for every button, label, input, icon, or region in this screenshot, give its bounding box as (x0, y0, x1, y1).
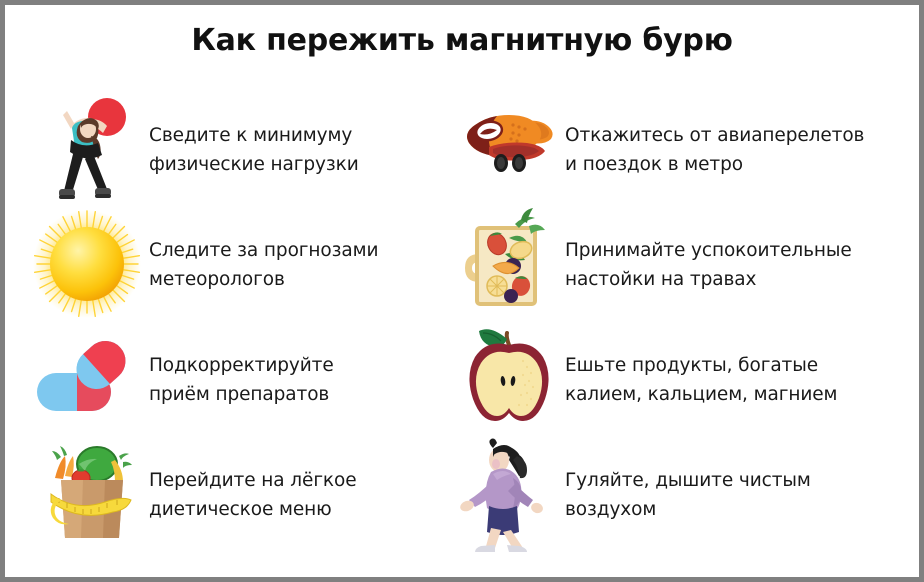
airplane-icon (453, 93, 565, 208)
tip-label: Следите за прогнозами метеорологов (149, 237, 378, 294)
tip-item: Принимайте успокоительные настойки на тр… (453, 208, 898, 323)
tip-item: Подкорректируйте приём препаратов (31, 323, 476, 438)
tip-label: Принимайте успокоительные настойки на тр… (565, 237, 852, 294)
tip-label: Откажитесь от авиаперелетов и поездок в … (565, 122, 864, 179)
tips-column-right: Откажитесь от авиаперелетов и поездок в … (453, 93, 898, 573)
tip-label: Гуляйте, дышите чистым воздухом (565, 467, 811, 524)
tip-line-2: настойки на травах (565, 269, 756, 290)
tip-line-1: Перейдите на лёгкое (149, 470, 357, 491)
tip-line-2: калием, кальцием, магнием (565, 384, 837, 405)
tip-line-1: Ешьте продукты, богатые (565, 355, 818, 376)
tip-item: Откажитесь от авиаперелетов и поездок в … (453, 93, 898, 208)
tip-line-2: физические нагрузки (149, 154, 359, 175)
tip-item: Гуляйте, дышите чистым воздухом (453, 438, 898, 553)
tip-line-2: метеорологов (149, 269, 285, 290)
tip-line-2: диетическое меню (149, 499, 332, 520)
tip-label: Подкорректируйте приём препаратов (149, 352, 334, 409)
tip-line-1: Откажитесь от авиаперелетов (565, 125, 864, 146)
tip-line-2: приём препаратов (149, 384, 329, 405)
tip-item: Перейдите на лёгкое диетическое меню (31, 438, 476, 553)
tip-item: Следите за прогнозами метеорологов (31, 208, 476, 323)
infographic-canvas: Как пережить магнитную бурю (5, 5, 919, 577)
tip-line-1: Подкорректируйте (149, 355, 334, 376)
tip-label: Перейдите на лёгкое диетическое меню (149, 467, 357, 524)
grocery-bag-measuring-tape-icon (31, 438, 149, 553)
herbal-tea-mug-icon (453, 208, 565, 323)
tip-line-1: Принимайте успокоительные (565, 240, 852, 261)
tip-line-2: и поездок в метро (565, 154, 743, 175)
tip-label: Ешьте продукты, богатые калием, кальцием… (565, 352, 837, 409)
apple-half-icon (453, 323, 565, 438)
tip-item: Сведите к минимуму физические нагрузки (31, 93, 476, 208)
walking-person-icon (453, 438, 565, 553)
tip-line-1: Следите за прогнозами (149, 240, 378, 261)
tip-line-1: Гуляйте, дышите чистым (565, 470, 811, 491)
sun-icon (31, 208, 149, 323)
tips-grid: Сведите к минимуму физические нагрузки (5, 93, 919, 573)
tip-line-1: Сведите к минимуму (149, 125, 352, 146)
woman-exercising-with-ball-icon (31, 93, 149, 208)
tip-label: Сведите к минимуму физические нагрузки (149, 122, 359, 179)
tips-column-left: Сведите к минимуму физические нагрузки (31, 93, 476, 573)
tip-line-2: воздухом (565, 499, 656, 520)
pills-capsules-icon (31, 323, 149, 438)
tip-item: Ешьте продукты, богатые калием, кальцием… (453, 323, 898, 438)
page-title: Как пережить магнитную бурю (5, 23, 919, 58)
